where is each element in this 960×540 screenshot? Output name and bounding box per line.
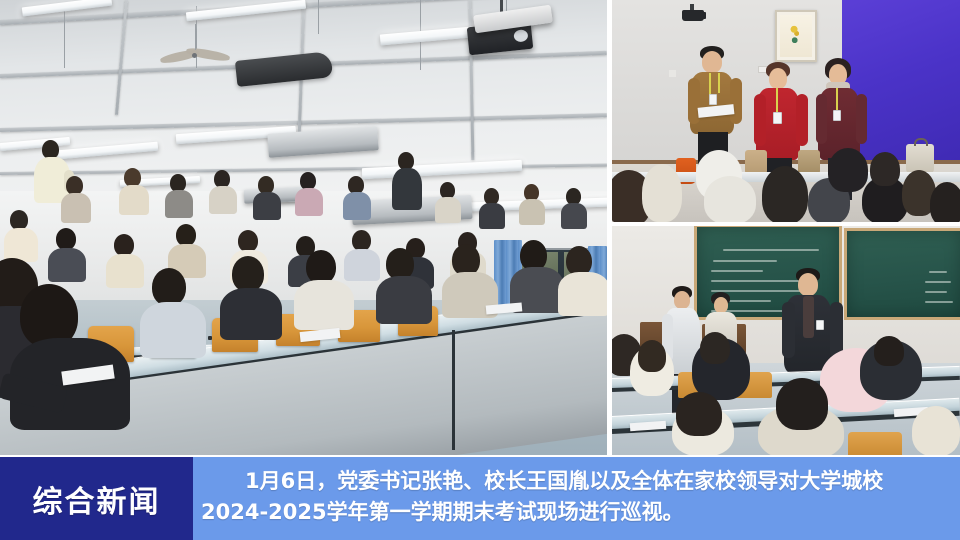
photo-leaders-inspection [612, 0, 960, 222]
wall-plate [669, 70, 676, 77]
desk-panel-seam [452, 330, 455, 450]
chalk-writing [711, 280, 799, 282]
id-badge [833, 110, 841, 121]
id-badge [709, 94, 717, 105]
student-head [828, 148, 868, 192]
student-head [638, 340, 666, 372]
student-head [704, 176, 756, 222]
student-head [870, 152, 900, 186]
photo-collage [0, 0, 960, 457]
photo-proctor-classroom [612, 226, 960, 455]
category-badge: 综合新闻 [0, 457, 193, 540]
id-badge [773, 112, 782, 124]
chalk-writing [711, 270, 763, 272]
scarf [803, 296, 814, 338]
light-hanger [318, 0, 319, 34]
student-head [762, 166, 808, 222]
chalk-writing [723, 249, 819, 251]
student-head [642, 164, 682, 222]
chalkboard-side [844, 228, 960, 320]
chalk-writing [713, 260, 777, 262]
photo-main-exam-hall [0, 0, 607, 455]
news-photo-card: 综合新闻 1月6日，党委书记张艳、校长王国胤以及全体在家校领导对大学城校 202… [0, 0, 960, 540]
student-head [776, 378, 828, 430]
student-head [676, 392, 722, 436]
light-hanger [64, 8, 65, 68]
student-head [700, 332, 730, 364]
student-head [930, 182, 960, 222]
chalk-writing [925, 281, 951, 283]
chalk-writing [929, 271, 947, 273]
seat [848, 432, 902, 455]
bag-handle [914, 138, 928, 146]
student-head [912, 406, 960, 455]
caption-line-1: 1月6日，党委书记张艳、校长王国胤以及全体在家校领导对大学城校 [201, 466, 946, 497]
surveillance-camera-icon [700, 12, 706, 19]
caption-line-2: 2024-2025学年第一学期期末考试现场进行巡视。 [201, 497, 946, 528]
news-caption: 1月6日，党委书记张艳、校长王国胤以及全体在家校领导对大学城校 2024-202… [193, 457, 960, 540]
seat-bolt [208, 336, 212, 340]
category-badge-label: 综合新闻 [33, 477, 161, 521]
chalk-writing [925, 301, 953, 303]
chalk-writing [925, 291, 947, 293]
framed-picture [775, 10, 817, 62]
id-badge [816, 320, 824, 330]
fan-rod [195, 24, 196, 50]
student-head [874, 336, 904, 366]
news-banner: 综合新闻 1月6日，党委书记张艳、校长王国胤以及全体在家校领导对大学城校 202… [0, 457, 960, 540]
